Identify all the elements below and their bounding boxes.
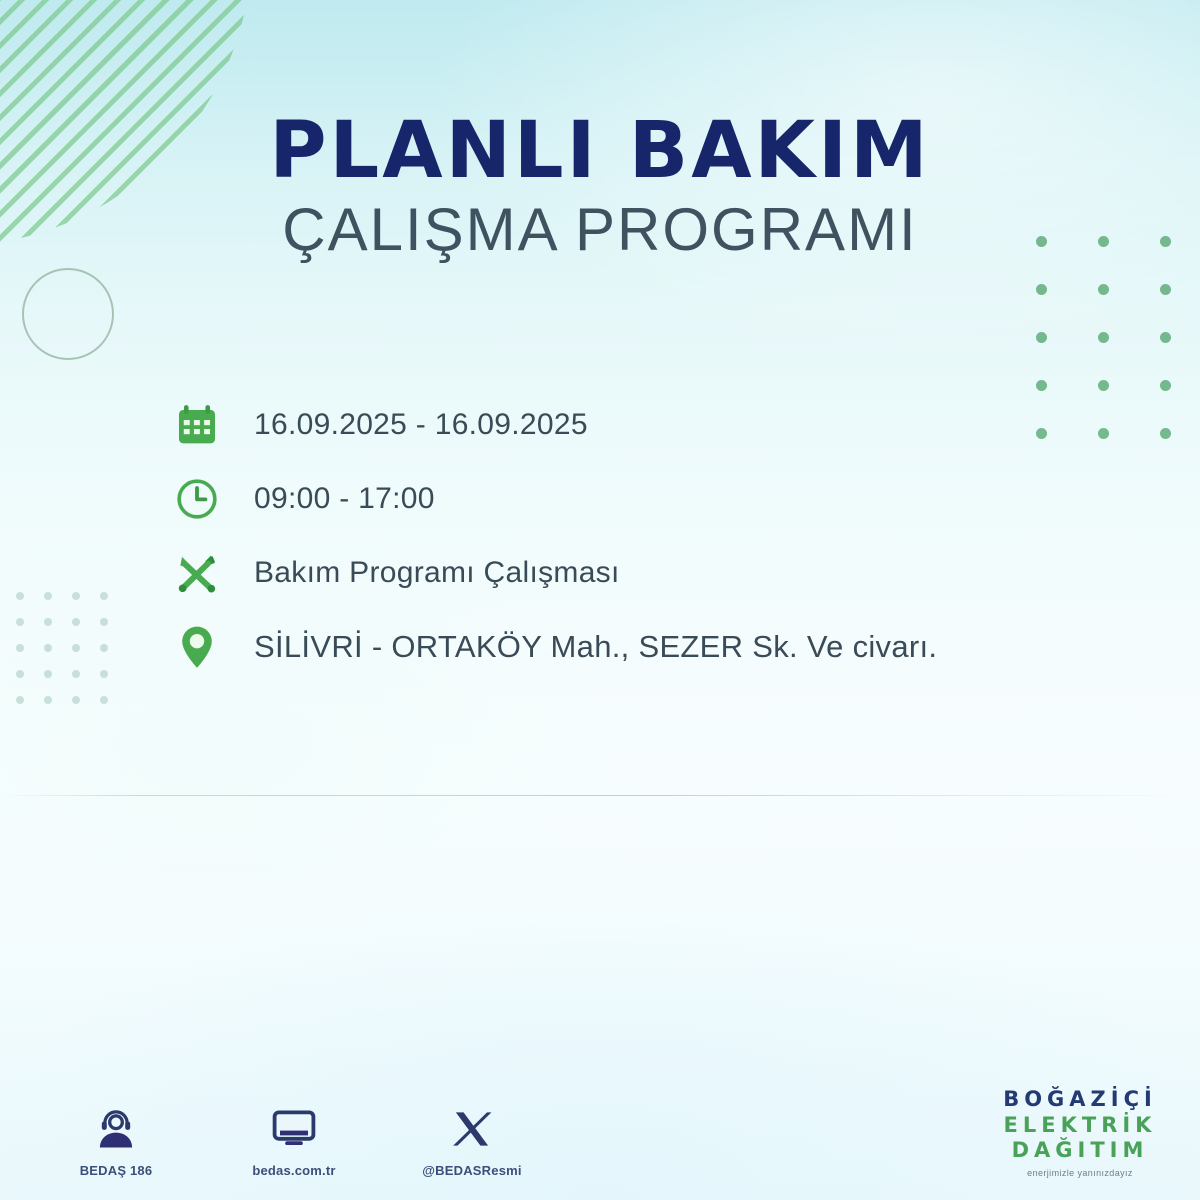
info-row-work-type-text: Bakım Programı Çalışması xyxy=(254,556,620,590)
info-row-date-text: 16.09.2025 - 16.09.2025 xyxy=(254,408,588,442)
info-row-time: 09:00 - 17:00 xyxy=(168,462,1108,536)
tools-icon xyxy=(168,550,226,596)
circle-outline-decoration xyxy=(22,268,114,360)
footer-item-website-label: bedas.com.tr xyxy=(238,1163,350,1178)
monitor-icon xyxy=(238,1094,350,1152)
page-subtitle: ÇALIŞMA PROGRAMI xyxy=(0,198,1200,261)
bedas-logo: BOĞAZİÇİ ELEKTRİK DAĞITIM enerjimizle ya… xyxy=(982,1087,1178,1178)
page-header: PLANLI BAKIM ÇALIŞMA PROGRAMI xyxy=(0,112,1200,261)
logo-tagline: enerjimizle yanınızdayız xyxy=(982,1168,1178,1178)
location-pin-icon xyxy=(168,623,226,671)
dot-grid-decoration-left xyxy=(16,592,128,722)
horizontal-divider xyxy=(0,795,1200,796)
info-row-location-text: SİLİVRİ - ORTAKÖY Mah., SEZER Sk. Ve civ… xyxy=(254,629,937,665)
info-list: 16.09.2025 - 16.09.2025 09:00 - 17:00 Ba… xyxy=(168,388,1108,684)
x-twitter-icon xyxy=(416,1094,528,1152)
logo-line-3: DAĞITIM xyxy=(982,1138,1178,1164)
footer-item-social[interactable]: @BEDASResmi xyxy=(416,1094,528,1178)
info-row-work-type: Bakım Programı Çalışması xyxy=(168,536,1108,610)
page-title: PLANLI BAKIM xyxy=(0,112,1200,192)
footer-contact-bar: BEDAŞ 186 bedas.com.tr @BEDASResmi xyxy=(60,1094,528,1178)
footer-item-website[interactable]: bedas.com.tr xyxy=(238,1094,350,1178)
clock-icon xyxy=(168,476,226,522)
info-row-date: 16.09.2025 - 16.09.2025 xyxy=(168,388,1108,462)
call-center-agent-icon xyxy=(60,1094,172,1152)
calendar-icon xyxy=(168,402,226,448)
footer-item-social-label: @BEDASResmi xyxy=(416,1163,528,1178)
info-row-time-text: 09:00 - 17:00 xyxy=(254,482,435,516)
info-row-location: SİLİVRİ - ORTAKÖY Mah., SEZER Sk. Ve civ… xyxy=(168,610,1108,684)
footer-item-phone-label: BEDAŞ 186 xyxy=(60,1163,172,1178)
footer-item-phone[interactable]: BEDAŞ 186 xyxy=(60,1094,172,1178)
logo-line-2: ELEKTRİK xyxy=(982,1113,1178,1139)
logo-line-1: BOĞAZİÇİ xyxy=(982,1087,1178,1113)
